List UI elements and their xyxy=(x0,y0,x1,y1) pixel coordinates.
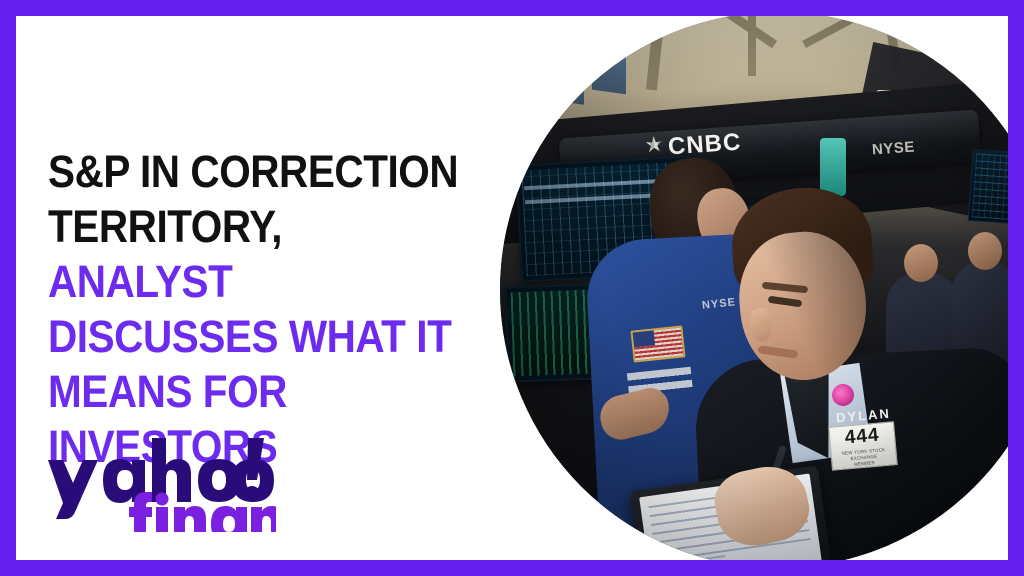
stock-exchange-photo: CNBC NYSE YORK STOC xyxy=(500,16,1008,560)
blue-wall-panel xyxy=(500,35,538,103)
yahoo-wordmark-glyphs xyxy=(48,438,274,519)
page-title: S&P IN CORRECTION TERRITORY, ANALYST DIS… xyxy=(48,144,471,474)
trading-floor-scene: CNBC NYSE YORK STOC xyxy=(500,16,1008,560)
video-thumbnail: CNBC NYSE YORK STOC xyxy=(0,0,1024,576)
background-trader-head xyxy=(968,232,1002,270)
ceiling-girder-icon xyxy=(748,16,756,76)
nyse-sign-text: NYSE xyxy=(871,139,915,159)
headline-segment-dark: S&P IN CORRECTION TERRITORY, xyxy=(48,146,458,252)
blue-wall-panel xyxy=(544,29,584,105)
us-flag-patch-icon xyxy=(630,325,685,362)
thumbnail-content-area: CNBC NYSE YORK STOC xyxy=(16,16,1008,560)
background-monitor xyxy=(968,149,1008,227)
monitor-data-grid xyxy=(972,153,1008,222)
yahoo-finance-logo xyxy=(46,436,276,532)
background-trader-head xyxy=(904,244,938,282)
blue-wall-panel xyxy=(592,24,626,95)
trader-id-badge: 444 NEW YORK STOCK EXCHANGE MEMBER xyxy=(828,421,898,471)
illuminated-sign xyxy=(820,138,846,196)
